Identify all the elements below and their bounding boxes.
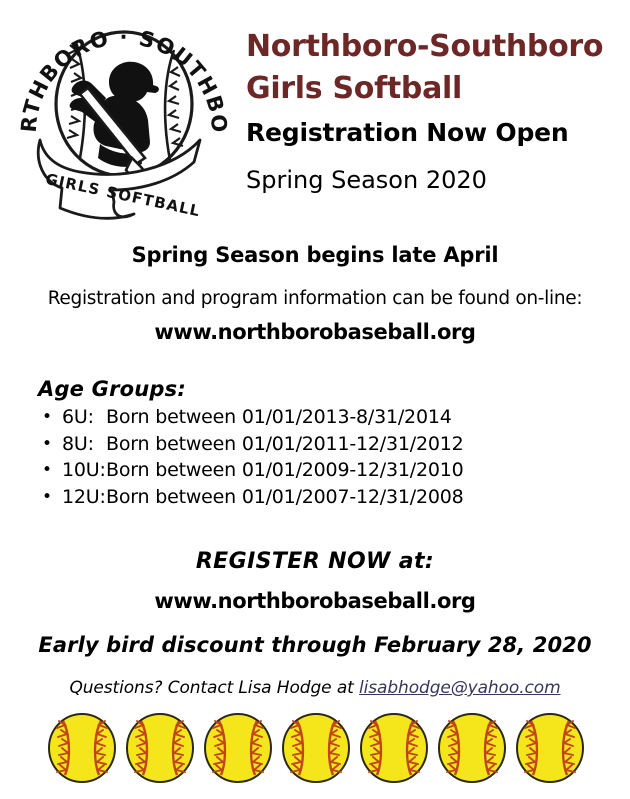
age-group-detail: Born between 01/01/2011-12/31/2012 bbox=[106, 433, 464, 455]
age-group-label: 12U: bbox=[62, 484, 106, 511]
season-begins-line: Spring Season begins late April bbox=[0, 243, 630, 267]
contact-email-link[interactable]: lisabhodge@yahoo.com bbox=[359, 678, 561, 698]
website-link-secondary[interactable]: www.northborobaseball.org bbox=[0, 589, 630, 613]
softball-icon bbox=[514, 712, 586, 784]
flyer-title-line-1: Northboro-Southboro bbox=[246, 26, 626, 68]
age-group-detail: Born between 01/01/2009-12/31/2010 bbox=[106, 459, 464, 481]
contact-prefix: Questions? Contact Lisa Hodge at bbox=[69, 678, 359, 698]
age-groups-heading: Age Groups: bbox=[38, 377, 578, 401]
register-now-heading: REGISTER NOW at: bbox=[0, 549, 630, 574]
age-group-item-8u: 8U:Born between 01/01/2011-12/31/2012 bbox=[38, 431, 578, 458]
registration-status-heading: Registration Now Open bbox=[246, 110, 626, 156]
age-group-detail: Born between 01/01/2013-8/31/2014 bbox=[106, 406, 452, 428]
softball-icon bbox=[202, 712, 274, 784]
softball-icon bbox=[280, 712, 352, 784]
softball-icon bbox=[358, 712, 430, 784]
age-group-detail: Born between 01/01/2007-12/31/2008 bbox=[106, 486, 464, 508]
flyer-page: NORTHBORO · SOUTHBORO GIRLS SOFTBALL Nor… bbox=[0, 0, 630, 799]
age-group-label: 8U: bbox=[62, 431, 106, 458]
age-groups-list: 6U:Born between 01/01/2013-8/31/2014 8U:… bbox=[38, 404, 578, 510]
age-groups-section: Age Groups: 6U:Born between 01/01/2013-8… bbox=[38, 377, 578, 510]
flyer-title-line-2: Girls Softball bbox=[246, 68, 626, 110]
website-link-primary[interactable]: www.northborobaseball.org bbox=[0, 320, 630, 344]
league-logo: NORTHBORO · SOUTHBORO GIRLS SOFTBALL bbox=[14, 12, 229, 224]
softball-icon bbox=[124, 712, 196, 784]
age-group-label: 6U: bbox=[62, 404, 106, 431]
early-bird-discount-line: Early bird discount through February 28,… bbox=[0, 633, 630, 657]
age-group-label: 10U: bbox=[62, 457, 106, 484]
softball-icon bbox=[46, 712, 118, 784]
season-heading: Spring Season 2020 bbox=[246, 156, 626, 204]
age-group-item-10u: 10U:Born between 01/01/2009-12/31/2010 bbox=[38, 457, 578, 484]
age-group-item-6u: 6U:Born between 01/01/2013-8/31/2014 bbox=[38, 404, 578, 431]
age-group-item-12u: 12U:Born between 01/01/2007-12/31/2008 bbox=[38, 484, 578, 511]
softball-icon bbox=[436, 712, 508, 784]
header-text-block: Northboro-Southboro Girls Softball Regis… bbox=[246, 26, 626, 204]
softball-decoration-row bbox=[46, 708, 586, 788]
contact-line: Questions? Contact Lisa Hodge at lisabho… bbox=[0, 678, 630, 698]
registration-info-line: Registration and program information can… bbox=[0, 288, 630, 309]
